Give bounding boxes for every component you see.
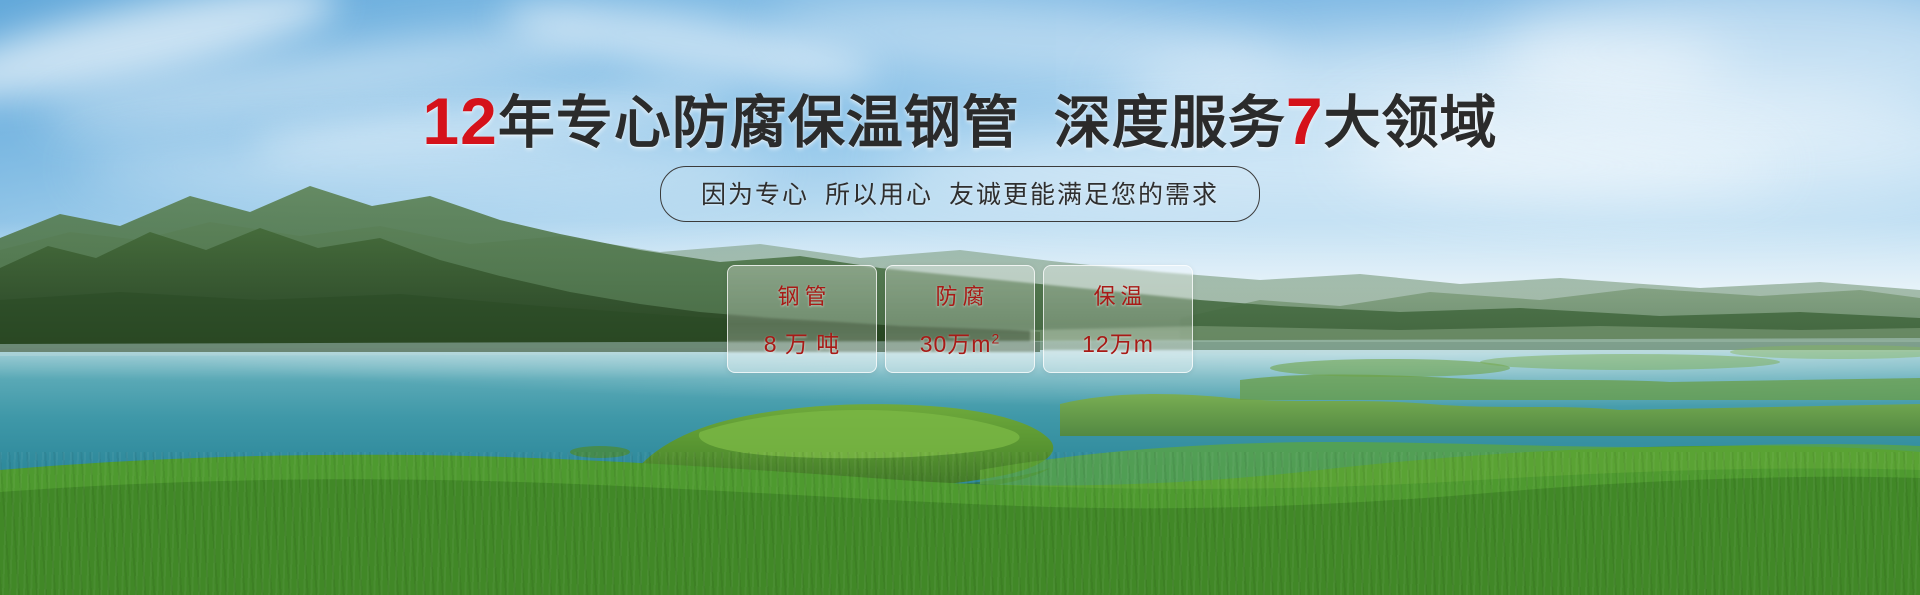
- hero-banner: 12年专心防腐保温钢管深度服务7大领域 因为专心所以用心友诚更能满足您的需求 钢…: [0, 0, 1920, 595]
- banner-content: 12年专心防腐保温钢管深度服务7大领域 因为专心所以用心友诚更能满足您的需求 钢…: [0, 0, 1920, 595]
- stat-card-insulation: 保温 12万m: [1043, 265, 1193, 373]
- stat-card-value: 12万m: [1082, 325, 1154, 359]
- headline-text-part3: 大领域: [1324, 91, 1498, 155]
- banner-subtitle-wrap: 因为专心所以用心友诚更能满足您的需求: [0, 166, 1920, 222]
- stat-card-label: 钢管: [772, 279, 831, 311]
- stat-value-exponent: 2: [991, 330, 1000, 346]
- subtitle-seg-2: 所以用心: [825, 181, 933, 209]
- stat-card-group: 钢管 8 万 吨 防腐 30万m2 保温 12万m: [0, 265, 1920, 373]
- stat-card-steel-pipe: 钢管 8 万 吨: [727, 265, 877, 373]
- headline-number-years: 12: [422, 84, 497, 158]
- headline-text-part1: 年专心防腐保温钢管: [498, 91, 1020, 155]
- stat-card-value: 8 万 吨: [764, 325, 841, 359]
- headline-number-fields: 7: [1286, 84, 1324, 158]
- stat-card-label: 防腐: [930, 279, 989, 311]
- headline-text-part2: 深度服务: [1054, 91, 1286, 155]
- subtitle-seg-1: 因为专心: [701, 181, 809, 209]
- stat-card-value: 30万m2: [920, 325, 1001, 359]
- stat-value-text: 12万m: [1082, 331, 1154, 357]
- subtitle-seg-3: 友诚更能满足您的需求: [949, 181, 1219, 209]
- stat-card-label: 保温: [1088, 279, 1147, 311]
- stat-card-anticorrosion: 防腐 30万m2: [885, 265, 1035, 373]
- stat-value-text: 30万m: [920, 331, 992, 357]
- banner-subtitle-pill: 因为专心所以用心友诚更能满足您的需求: [660, 166, 1260, 222]
- stat-value-text: 8 万 吨: [764, 331, 841, 357]
- banner-headline: 12年专心防腐保温钢管深度服务7大领域: [0, 88, 1920, 154]
